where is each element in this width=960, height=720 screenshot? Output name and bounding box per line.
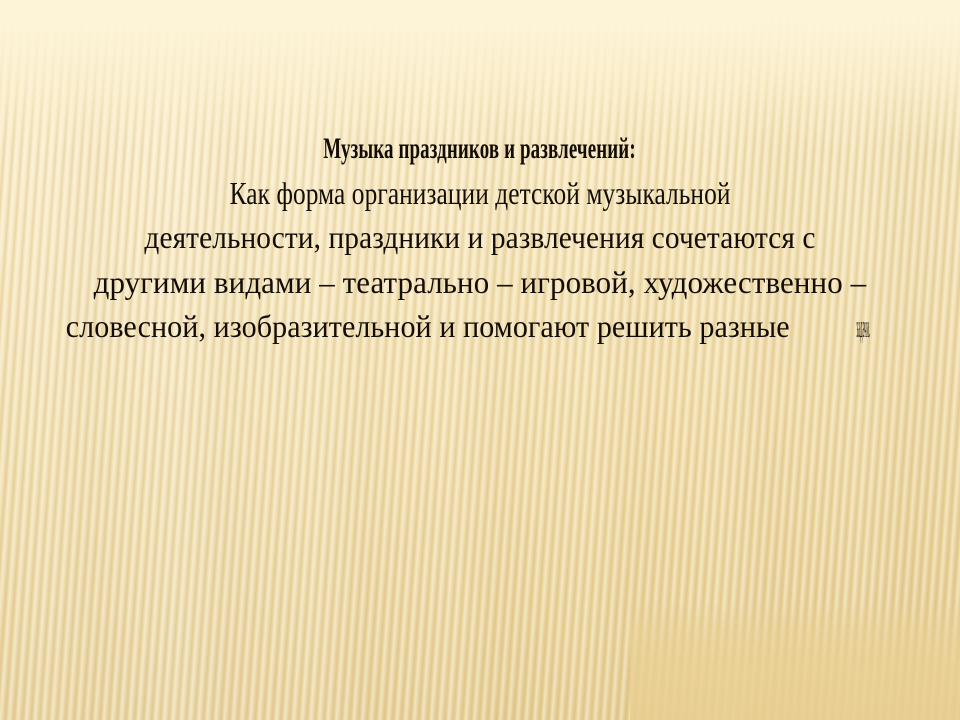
slide-content: Музыка праздников и развлечений: Как фор… bbox=[0, 0, 960, 720]
slide-body-line-1: Как форма организации детской музыкально… bbox=[230, 172, 731, 217]
slide-body-line-3: другими видами – театрально – игровой, х… bbox=[94, 261, 867, 306]
slide-title-line: Музыка праздников и развлечений: bbox=[324, 127, 637, 172]
slide-text-block: Музыка праздников и развлечений: Как фор… bbox=[8, 126, 952, 350]
slide-body-line-2: деятельности, праздники и развлечения со… bbox=[144, 216, 815, 261]
presentation-slide: Музыка праздников и развлечений: Как фор… bbox=[0, 0, 960, 720]
slide-body-line-5: задачи. bbox=[857, 305, 871, 350]
slide-body-line-4: словесной, изобразительной и помогают ре… bbox=[66, 305, 790, 350]
